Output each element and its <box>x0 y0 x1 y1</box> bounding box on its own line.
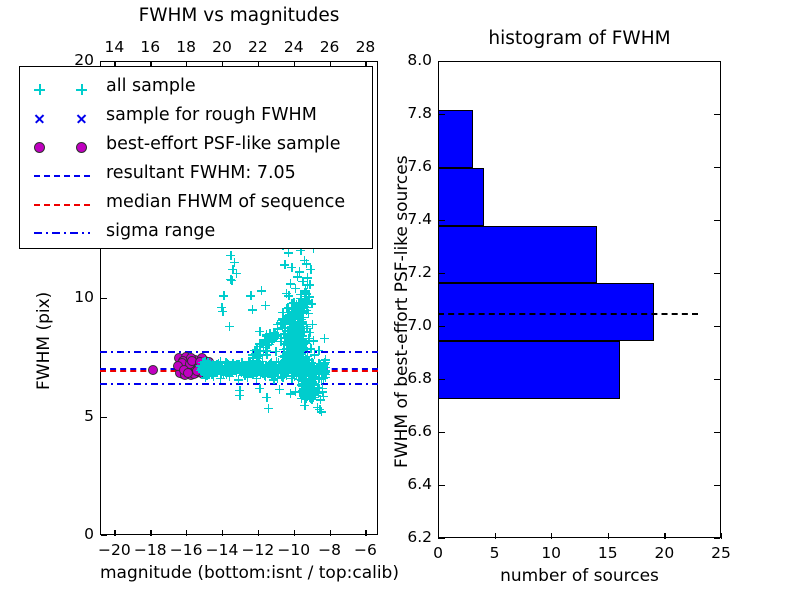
legend-marker-slot <box>24 103 100 133</box>
x-ticklabel-top: 22 <box>238 38 278 56</box>
histogram-bar <box>438 226 597 284</box>
y-ticklabel: 7.2 <box>388 263 432 281</box>
x-tick <box>608 533 609 539</box>
x-tick-bottom <box>186 530 187 536</box>
legend-item[interactable]: sigma range <box>20 219 372 249</box>
y-ticklabel: 6.6 <box>388 422 432 440</box>
x-ticklabel: 10 <box>531 544 571 562</box>
x-ticklabel-top: 24 <box>274 38 314 56</box>
y-tick-right <box>714 273 720 274</box>
left-plot-xlabel: magnitude (bottom:isnt / top:calib) <box>100 563 378 583</box>
dashed-line-icon <box>34 204 90 206</box>
y-ticklabel: 7.6 <box>388 157 432 175</box>
y-tick <box>439 220 445 221</box>
y-tick <box>439 273 445 274</box>
y-ticklabel: 10 <box>52 288 94 306</box>
legend-marker-slot <box>24 190 100 220</box>
x-tick <box>721 533 722 539</box>
y-tick <box>439 432 445 433</box>
legend-marker-slot <box>24 132 100 162</box>
legend[interactable]: all samplesample for rough FWHMbest-effo… <box>19 66 373 249</box>
y-tick-right <box>714 379 720 380</box>
y-tick-right <box>714 485 720 486</box>
legend-item[interactable]: best-effort PSF-like sample <box>20 132 372 162</box>
x-ticklabel-top: 18 <box>166 38 206 56</box>
y-ticklabel: 6.8 <box>388 369 432 387</box>
histogram-bar <box>438 110 473 168</box>
y-ticklabel: 8.0 <box>388 51 432 69</box>
cross-icon <box>76 113 87 124</box>
circle-icon <box>34 142 45 153</box>
histogram-bar <box>438 168 484 226</box>
y-tick-right <box>714 61 720 62</box>
x-ticklabel-top: 26 <box>310 38 350 56</box>
dashed-line-icon <box>34 175 90 177</box>
legend-marker-slot <box>24 219 100 249</box>
x-ticklabel: 25 <box>701 544 741 562</box>
x-ticklabel-top: 16 <box>130 38 170 56</box>
y-tick <box>439 326 445 327</box>
y-tick <box>439 379 445 380</box>
plus-icon <box>76 84 87 95</box>
y-ticklabel: 7.0 <box>388 316 432 334</box>
x-ticklabel-top: 20 <box>202 38 242 56</box>
legend-item-label: sample for rough FWHM <box>106 105 317 125</box>
y-ticklabel: 5 <box>52 407 94 425</box>
legend-item[interactable]: all sample <box>20 74 372 104</box>
legend-item-label: all sample <box>106 76 196 96</box>
left-plot-title: FWHM vs magnitudes <box>100 5 378 26</box>
legend-item-label: median FHWM of sequence <box>106 192 345 212</box>
x-ticklabel-bottom: −6 <box>343 541 387 559</box>
plus-icon <box>34 84 45 95</box>
right-plot-axes[interactable] <box>438 61 721 538</box>
left-plot-ylabel: FWHM (pix) <box>34 292 54 390</box>
x-tick <box>495 533 496 539</box>
legend-item[interactable]: resultant FWHM: 7.05 <box>20 161 372 191</box>
y-ticklabel: 7.8 <box>388 104 432 122</box>
legend-marker-slot <box>24 161 100 191</box>
histogram-bar <box>438 341 620 399</box>
legend-item[interactable]: median FHWM of sequence <box>20 190 372 220</box>
y-tick <box>439 538 445 539</box>
y-tick-right <box>714 326 720 327</box>
x-tick-bottom <box>150 530 151 536</box>
x-tick-bottom <box>222 530 223 536</box>
y-tick-right <box>714 114 720 115</box>
x-tick-bottom <box>114 530 115 536</box>
circle-icon <box>76 142 87 153</box>
legend-item-label: sigma range <box>106 221 215 241</box>
y-tick-right <box>714 538 720 539</box>
x-tick-bottom <box>365 530 366 536</box>
psf-sample-point <box>148 365 158 375</box>
y-tick <box>439 61 445 62</box>
legend-item-label: best-effort PSF-like sample <box>106 134 341 154</box>
x-tick-bottom <box>294 530 295 536</box>
x-tick-bottom <box>258 530 259 536</box>
y-tick <box>101 298 107 299</box>
sigma-range-line <box>100 351 378 353</box>
x-tick <box>551 533 552 539</box>
y-ticklabel: 0 <box>52 525 94 543</box>
y-tick-right <box>714 432 720 433</box>
y-ticklabel: 7.4 <box>388 210 432 228</box>
y-tick <box>101 535 107 536</box>
y-ticklabel: 6.4 <box>388 475 432 493</box>
y-tick <box>439 485 445 486</box>
y-tick <box>439 167 445 168</box>
y-tick-right <box>714 167 720 168</box>
y-tick <box>101 417 107 418</box>
y-tick <box>439 114 445 115</box>
x-tick-bottom <box>330 530 331 536</box>
y-tick-right <box>714 220 720 221</box>
x-ticklabel: 15 <box>588 544 628 562</box>
y-ticklabel: 6.2 <box>388 528 432 546</box>
x-ticklabel: 20 <box>644 544 684 562</box>
y-tick <box>101 61 107 62</box>
right-plot-xlabel: number of sources <box>438 566 721 586</box>
legend-marker-slot <box>24 74 100 104</box>
dashdot-line-icon <box>34 232 90 234</box>
x-tick <box>664 533 665 539</box>
resultant-fwhm-line <box>438 313 698 315</box>
legend-item[interactable]: sample for rough FWHM <box>20 103 372 133</box>
x-ticklabel-top: 14 <box>94 38 134 56</box>
cross-icon <box>34 113 45 124</box>
median-fwhm-line <box>100 370 378 372</box>
right-plot-title: histogram of FWHM <box>438 28 721 49</box>
x-ticklabel: 0 <box>418 544 458 562</box>
legend-item-label: resultant FWHM: 7.05 <box>106 163 296 183</box>
figure-canvas: FWHM vs magnitudes FWHM (pix) magnitude … <box>0 0 800 600</box>
x-ticklabel-top: 28 <box>345 38 385 56</box>
sigma-range-line <box>100 383 378 385</box>
x-ticklabel: 5 <box>475 544 515 562</box>
